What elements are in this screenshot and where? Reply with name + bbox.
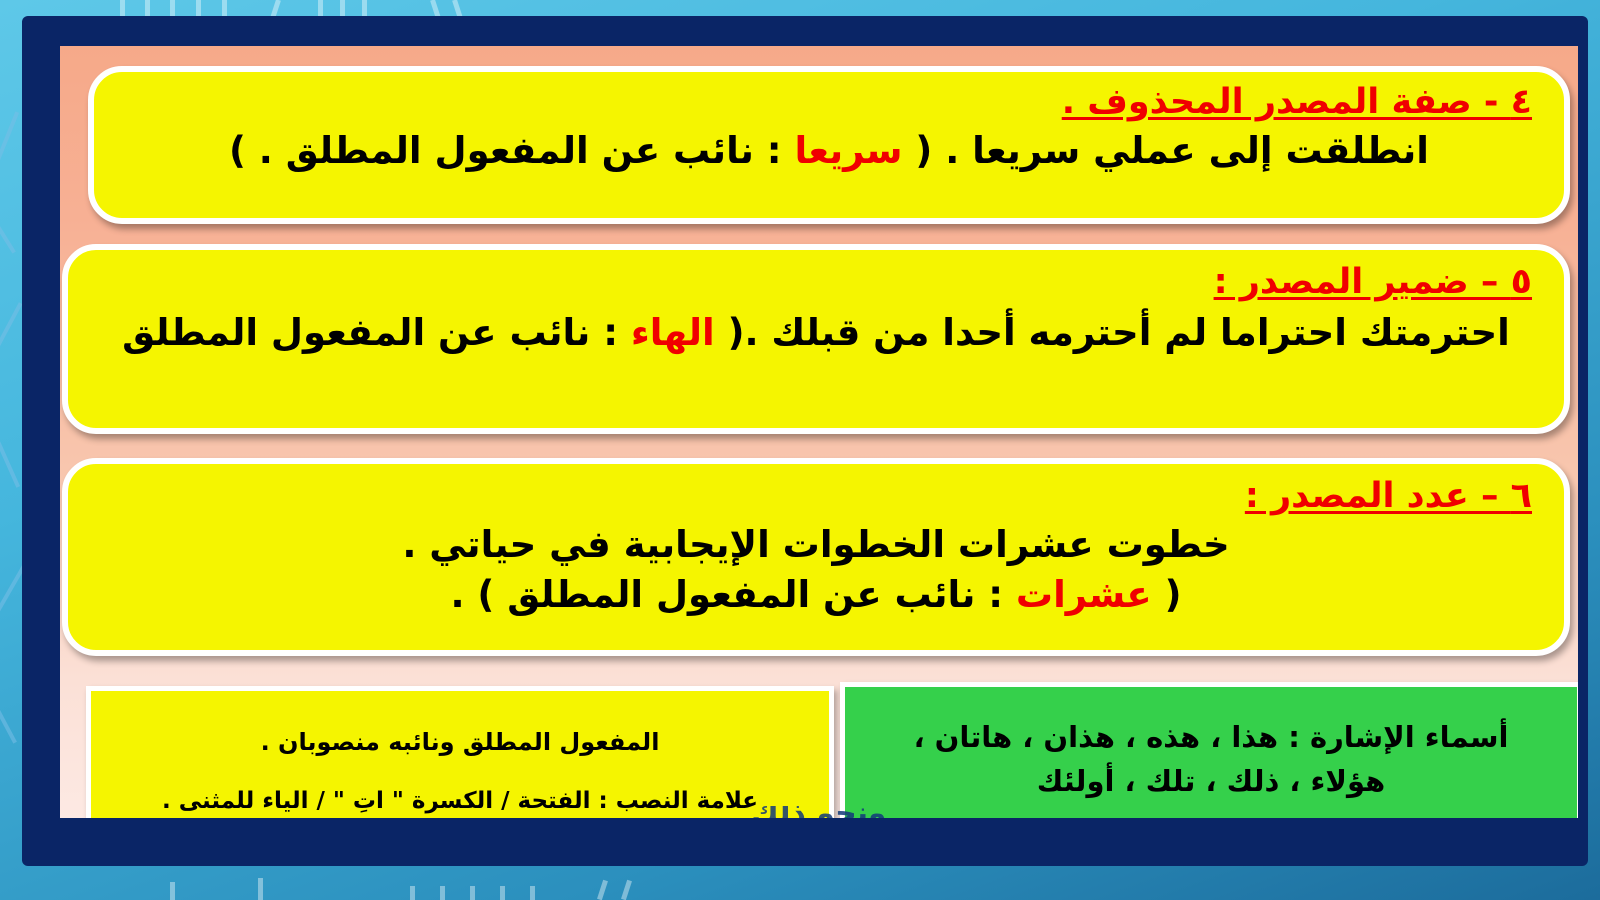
- deco-tick: [440, 886, 445, 900]
- deco-stroke: [0, 212, 16, 253]
- deco-stroke: [0, 302, 22, 352]
- card-4-line-1: انطلقت إلى عملي سريعا . ( سريعا : نائب ع…: [120, 129, 1538, 173]
- slide-root: ٤ - صفة المصدر المحذوف . انطلقت إلى عملي…: [0, 0, 1600, 900]
- slide-frame: ٤ - صفة المصدر المحذوف . انطلقت إلى عملي…: [22, 16, 1588, 866]
- deco-slash: [597, 880, 608, 900]
- card-6-heading: ٦ – عدد المصدر :: [94, 476, 1538, 517]
- deco-stroke: [0, 111, 19, 168]
- footer-cutoff-label: ونحو ذلك: [751, 806, 886, 818]
- deco-stroke: [0, 692, 17, 743]
- deco-tick: [410, 886, 415, 900]
- summary-green-line-2: هؤلاء ، ذلك ، تلك ، أولئك: [859, 763, 1563, 799]
- highlight-term: سريعا: [794, 129, 902, 172]
- footer-cutoff-text: ونحو ذلك: [60, 806, 1578, 818]
- deco-tick: [530, 886, 535, 900]
- text-segment: : نائب عن المفعول المطلق ) .: [450, 573, 1015, 616]
- content-card-4: ٤ - صفة المصدر المحذوف . انطلقت إلى عملي…: [88, 66, 1570, 224]
- card-6-line-1: خطوت عشرات الخطوات الإيجابية في حياتي .: [94, 523, 1538, 567]
- summary-green-line-1: أسماء الإشارة : هذا ، هذه ، هذان ، هاتان…: [859, 719, 1563, 755]
- content-card-5: ٥ – ضمير المصدر : احترمتك احتراما لم أحت…: [62, 244, 1570, 434]
- text-segment: : نائب عن المفعول المطلق: [122, 311, 631, 354]
- text-segment: : نائب عن المفعول المطلق . ): [229, 129, 794, 172]
- deco-stroke: [0, 422, 20, 488]
- deco-tick: [470, 886, 475, 900]
- summary-yellow-line-1: المفعول المطلق ونائبه منصوبان .: [105, 727, 815, 757]
- card-4-heading: ٤ - صفة المصدر المحذوف .: [120, 82, 1538, 123]
- highlight-term: عشرات: [1016, 573, 1152, 616]
- deco-tick: [258, 878, 263, 900]
- text-segment: احترمتك احتراما لم أحترمه أحدا من قبلك .…: [715, 311, 1510, 354]
- content-card-6: ٦ – عدد المصدر : خطوت عشرات الخطوات الإي…: [62, 458, 1570, 656]
- highlight-term: الهاء: [631, 311, 715, 354]
- summary-box-yellow: المفعول المطلق ونائبه منصوبان . علامة ال…: [86, 686, 834, 818]
- card-5-line-1: احترمتك احتراما لم أحترمه أحدا من قبلك .…: [94, 311, 1538, 355]
- card-5-heading: ٥ – ضمير المصدر :: [94, 262, 1538, 303]
- slide-canvas: ٤ - صفة المصدر المحذوف . انطلقت إلى عملي…: [60, 46, 1578, 818]
- deco-slash: [621, 880, 632, 900]
- text-segment: (: [1152, 573, 1182, 616]
- card-6-line-2: ( عشرات : نائب عن المفعول المطلق ) .: [94, 573, 1538, 617]
- deco-tick: [500, 886, 505, 900]
- summary-box-green: أسماء الإشارة : هذا ، هذه ، هذان ، هاتان…: [840, 682, 1578, 818]
- text-segment: انطلقت إلى عملي سريعا . (: [903, 129, 1429, 172]
- deco-tick: [170, 882, 175, 900]
